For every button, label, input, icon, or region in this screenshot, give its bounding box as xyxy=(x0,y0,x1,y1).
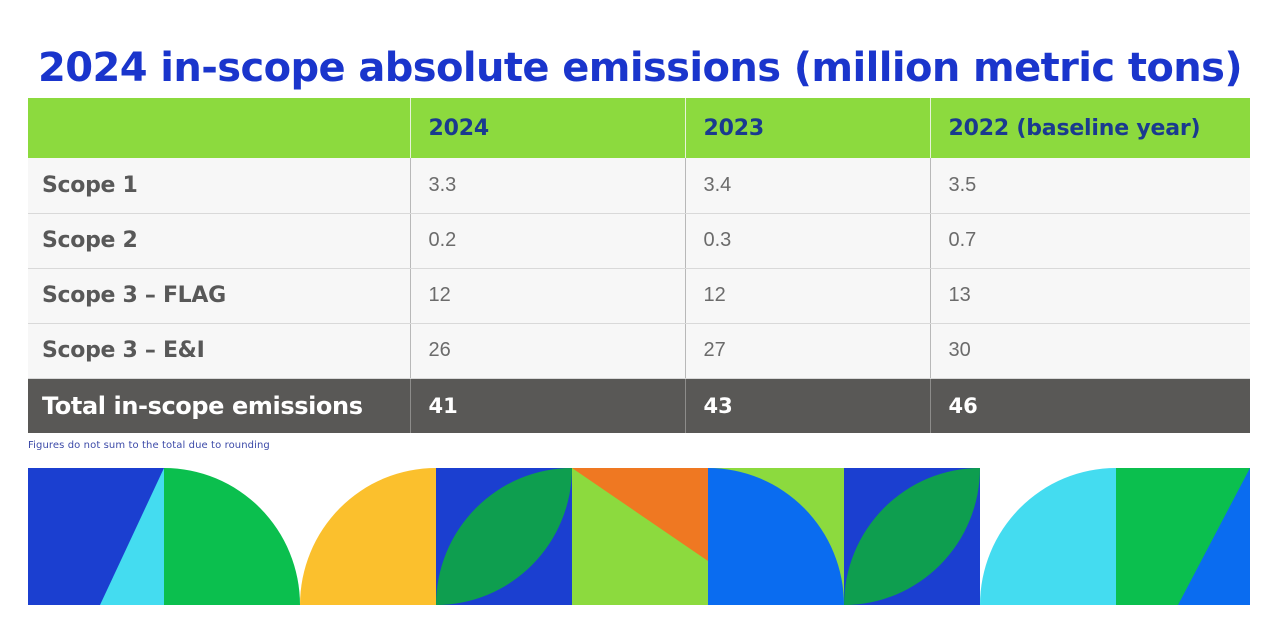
cell-scope-2-2023: 0.3 xyxy=(685,213,930,268)
emissions-table: 2024 2023 2022 (baseline year) Scope 1 3… xyxy=(28,98,1250,433)
band-panel-lime-orange-triangle xyxy=(572,468,708,605)
row-label-scope-3-ei: Scope 3 – E&I xyxy=(28,323,410,378)
cell-total-2024: 41 xyxy=(410,378,685,433)
table-row: Scope 2 0.2 0.3 0.7 xyxy=(28,213,1250,268)
cell-scope-2-2022: 0.7 xyxy=(930,213,1250,268)
column-header-label xyxy=(28,98,410,158)
page-root: 2024 in-scope absolute emissions (millio… xyxy=(0,0,1280,635)
table-row: Scope 3 – E&I 26 27 30 xyxy=(28,323,1250,378)
column-header-2023: 2023 xyxy=(685,98,930,158)
band-panel-green-dome xyxy=(164,468,300,605)
band-panel-green-blue-triangle xyxy=(1116,468,1250,605)
cell-scope-3-ei-2023: 27 xyxy=(685,323,930,378)
table-row: Scope 1 3.3 3.4 3.5 xyxy=(28,158,1250,213)
band-svg xyxy=(28,468,1250,605)
column-header-2024: 2024 xyxy=(410,98,685,158)
table-body: Scope 1 3.3 3.4 3.5 Scope 2 0.2 0.3 0.7 … xyxy=(28,158,1250,433)
cell-scope-3-flag-2024: 12 xyxy=(410,268,685,323)
cell-scope-3-flag-2023: 12 xyxy=(685,268,930,323)
band-panel-blue-cyan-triangle xyxy=(28,468,164,605)
table-total-row: Total in-scope emissions 41 43 46 xyxy=(28,378,1250,433)
table-header: 2024 2023 2022 (baseline year) xyxy=(28,98,1250,158)
band-panel-lime-blue-dome xyxy=(708,468,844,605)
cell-total-2023: 43 xyxy=(685,378,930,433)
band-panel-blue-green-leaf xyxy=(436,468,572,605)
cell-total-2022: 46 xyxy=(930,378,1250,433)
row-label-scope-3-flag: Scope 3 – FLAG xyxy=(28,268,410,323)
band-panel-yellow-dome xyxy=(300,468,436,605)
cell-scope-3-ei-2024: 26 xyxy=(410,323,685,378)
row-label-scope-1: Scope 1 xyxy=(28,158,410,213)
cell-scope-1-2023: 3.4 xyxy=(685,158,930,213)
band-panel-darkblue-green-leaf xyxy=(844,468,980,605)
cell-scope-2-2024: 0.2 xyxy=(410,213,685,268)
cell-scope-1-2024: 3.3 xyxy=(410,158,685,213)
table-header-row: 2024 2023 2022 (baseline year) xyxy=(28,98,1250,158)
page-title: 2024 in-scope absolute emissions (millio… xyxy=(38,45,1248,91)
cell-scope-3-flag-2022: 13 xyxy=(930,268,1250,323)
band-panel-cyan-dome xyxy=(980,468,1116,605)
column-header-2022: 2022 (baseline year) xyxy=(930,98,1250,158)
row-label-scope-2: Scope 2 xyxy=(28,213,410,268)
cell-scope-1-2022: 3.5 xyxy=(930,158,1250,213)
decorative-graphic-band xyxy=(28,468,1250,605)
table-footnote: Figures do not sum to the total due to r… xyxy=(28,440,270,451)
row-label-total: Total in-scope emissions xyxy=(28,378,410,433)
table-row: Scope 3 – FLAG 12 12 13 xyxy=(28,268,1250,323)
emissions-table-container: 2024 2023 2022 (baseline year) Scope 1 3… xyxy=(28,98,1250,433)
cell-scope-3-ei-2022: 30 xyxy=(930,323,1250,378)
